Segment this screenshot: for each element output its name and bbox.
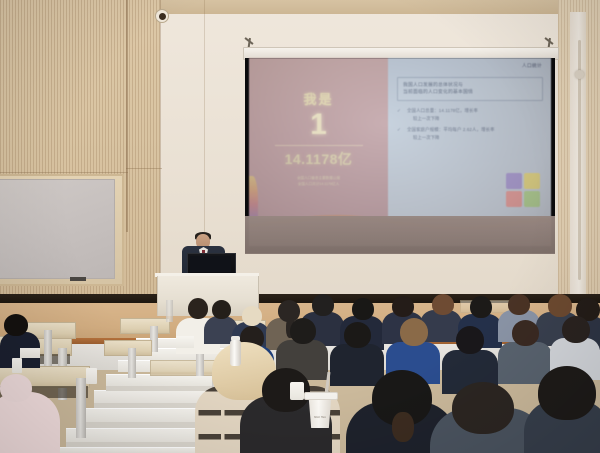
presentation-slide: 我是 1 14.1178亿 全国人口普查主要数据公报 全国人口共计14.1178… <box>249 58 551 218</box>
slide-bullet-item: ✓ 全国家庭户规模：平均每户 2.62人，增长率 <box>397 127 543 133</box>
attendee-head <box>432 294 454 315</box>
slide-title-line-2: 当前面临的人口变化的基本国情 <box>403 89 537 96</box>
wall-panel-seam <box>160 0 161 300</box>
bench-armrest-post <box>166 300 173 322</box>
paper-cup <box>86 368 97 384</box>
wall-panel-seam <box>126 0 128 232</box>
slide-title-line-1: 我国人口发展的总体状况与 <box>403 82 537 89</box>
attendee-head <box>188 298 208 319</box>
slide-big-number: 1 <box>310 110 327 140</box>
wall-knob <box>575 70 584 79</box>
attendee-head <box>470 296 492 318</box>
attendee-ponytail <box>392 412 414 442</box>
wall-top-trim <box>160 0 600 14</box>
attendee-head <box>352 298 374 320</box>
attendee-head <box>0 374 32 402</box>
attendee-head <box>212 300 231 319</box>
logo-square-green <box>524 191 540 207</box>
milk-tea-cup-label: MILK TEA <box>310 416 330 419</box>
paper-sheet <box>20 348 40 358</box>
slide-bullet-subtext: 较上一次下降 <box>413 116 543 122</box>
bench-desk <box>120 318 170 334</box>
projection-screen-lower-area <box>245 216 555 254</box>
slide-brand-logo: 人口统计 <box>522 63 542 69</box>
attendee-head <box>512 320 539 346</box>
attendee-head <box>242 306 262 326</box>
paper-cup <box>290 382 304 400</box>
bench-armrest-post <box>76 378 86 438</box>
slide-sub-number: 14.1178亿 <box>285 149 353 169</box>
attendee-head <box>290 318 316 344</box>
attendee-head <box>344 322 371 348</box>
slide-title-box: 我国人口发展的总体状况与 当前面临的人口变化的基本国情 <box>397 77 543 101</box>
wall-panel-seam <box>0 172 128 173</box>
slide-bullet-list: ✓ 全国人口总量：14.1178亿，增长率 较上一次下降 ✓ 全国家庭户规模：平… <box>397 108 543 142</box>
check-icon: ✓ <box>397 108 407 114</box>
paper-cup <box>12 358 22 373</box>
slide-heading: 我是 <box>303 89 333 108</box>
lecture-hall-photo: 我是 1 14.1178亿 全国人口普查主要数据公报 全国人口共计14.1178… <box>0 0 600 453</box>
attendee-head <box>392 296 414 317</box>
bench-armrest-post <box>128 348 136 378</box>
attendee-head <box>508 294 530 315</box>
attendee-head <box>456 326 484 354</box>
logo-square-yellow <box>524 173 540 189</box>
milk-tea-cup <box>307 396 333 428</box>
attendee-head <box>548 294 572 317</box>
logo-square-red <box>506 191 522 207</box>
slide-bullet-item: ✓ 全国人口总量：14.1178亿，增长率 <box>397 108 543 114</box>
slide-four-square-logo-icon <box>506 173 540 207</box>
attendee-head <box>400 318 428 346</box>
slide-caption: 全国人口普查主要数据公报 全国人口共计14.1178亿人 <box>266 176 371 187</box>
slide-bullet-text: 全国家庭户规模：平均每户 2.62人，增长率 <box>407 127 495 133</box>
logo-square-purple <box>506 173 522 189</box>
attendee-head <box>538 366 596 420</box>
attendee-head <box>4 314 28 336</box>
attendee-head <box>452 382 514 434</box>
whiteboard-frame <box>0 174 124 286</box>
slide-bullet-subtext: 较上一次下降 <box>413 135 543 141</box>
paper-sheet <box>176 336 194 348</box>
slide-divider <box>275 145 363 146</box>
milk-tea-cup-lid <box>304 392 338 400</box>
attendee-torso <box>330 344 384 386</box>
bench-armrest-post <box>44 330 52 366</box>
wall-panel-seam <box>126 168 162 169</box>
slide-caption-line-2: 全国人口共计14.1178亿人 <box>266 182 371 187</box>
whiteboard-marker-tray <box>70 277 86 281</box>
slide-right-panel: 人口统计 我国人口发展的总体状况与 当前面临的人口变化的基本国情 ✓ 全国人口总… <box>388 58 551 218</box>
water-bottle <box>230 340 241 366</box>
wall-sensor-icon <box>155 9 169 23</box>
slide-bullet-text: 全国人口总量：14.1178亿，增长率 <box>407 108 478 114</box>
whiteboard <box>0 179 115 279</box>
lectern-monitor-screen <box>190 256 231 272</box>
check-icon: ✓ <box>397 127 407 133</box>
slide-left-panel: 我是 1 14.1178亿 全国人口普查主要数据公报 全国人口共计14.1178… <box>249 58 388 218</box>
attendee-head <box>562 316 590 343</box>
attendee-head <box>312 294 334 316</box>
